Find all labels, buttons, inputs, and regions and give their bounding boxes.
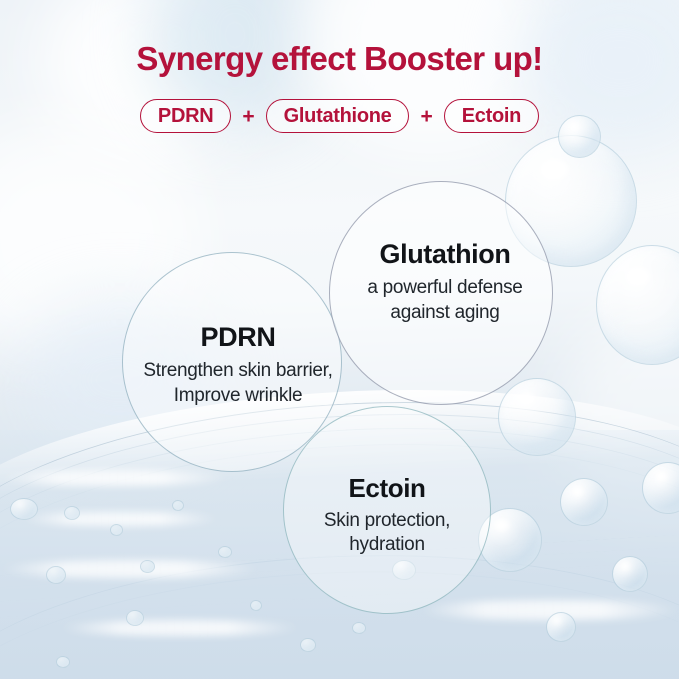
venn-circle-glutathion[interactable]: Glutathion a powerful defense against ag… <box>329 181 553 405</box>
promo-poster: Synergy effect Booster up! PDRN + Glutat… <box>0 0 679 679</box>
venn-pdrn-description: Strengthen skin barrier, Improve wrinkle <box>143 359 332 408</box>
venn-glutathion-description: a powerful defense against aging <box>367 276 522 325</box>
venn-pdrn-title: PDRN <box>143 323 332 353</box>
venn-diagram: PDRN Strengthen skin barrier, Improve wr… <box>0 0 679 679</box>
venn-glutathion-title: Glutathion <box>367 240 522 270</box>
venn-ectoin-title: Ectoin <box>324 474 450 503</box>
venn-circle-pdrn[interactable]: PDRN Strengthen skin barrier, Improve wr… <box>122 252 342 472</box>
venn-ectoin-description: Skin protection, hydration <box>324 509 450 558</box>
venn-circle-ectoin[interactable]: Ectoin Skin protection, hydration <box>283 406 491 614</box>
